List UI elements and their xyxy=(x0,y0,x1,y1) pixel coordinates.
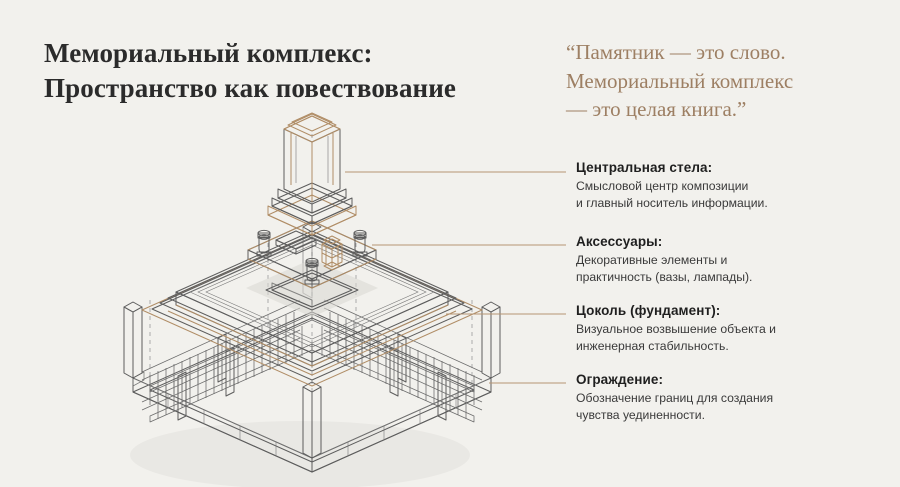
central-stele-layer xyxy=(268,113,356,235)
callout-plinth: Цоколь (фундамент): Визуальное возвышени… xyxy=(576,303,876,355)
callout-body-line-2: чувства уединенности. xyxy=(576,407,876,424)
callout-body: Визуальное возвышение объекта и инженерн… xyxy=(576,321,876,355)
callout-body: Смысловой центр композиции и главный нос… xyxy=(576,178,876,212)
callout-title: Центральная стела: xyxy=(576,160,876,175)
callout-title: Аксессуары: xyxy=(576,234,876,249)
callout-body-line-1: Визуальное возвышение объекта и xyxy=(576,321,876,338)
callout-title: Цоколь (фундамент): xyxy=(576,303,876,318)
callout-body-line-1: Смысловой центр композиции xyxy=(576,178,876,195)
callout-fence: Ограждение: Обозначение границ для созда… xyxy=(576,372,876,424)
callout-body: Обозначение границ для создания чувства … xyxy=(576,390,876,424)
callout-title: Ограждение: xyxy=(576,372,876,387)
ground-shadow xyxy=(130,421,470,487)
callout-body-line-1: Декоративные элементы и xyxy=(576,252,876,269)
callout-central-stele: Центральная стела: Смысловой центр компо… xyxy=(576,160,876,212)
callout-body-line-1: Обозначение границ для создания xyxy=(576,390,876,407)
callout-body-line-2: практичность (вазы, лампады). xyxy=(576,269,876,286)
callout-accessories: Аксессуары: Декоративные элементы и прак… xyxy=(576,234,876,286)
infographic-canvas: Мемориальный комплекс: Пространство как … xyxy=(0,0,900,487)
callout-body-line-2: инженерная стабильность. xyxy=(576,338,876,355)
callout-body-line-2: и главный носитель информации. xyxy=(576,195,876,212)
callout-body: Декоративные элементы и практичность (ва… xyxy=(576,252,876,286)
